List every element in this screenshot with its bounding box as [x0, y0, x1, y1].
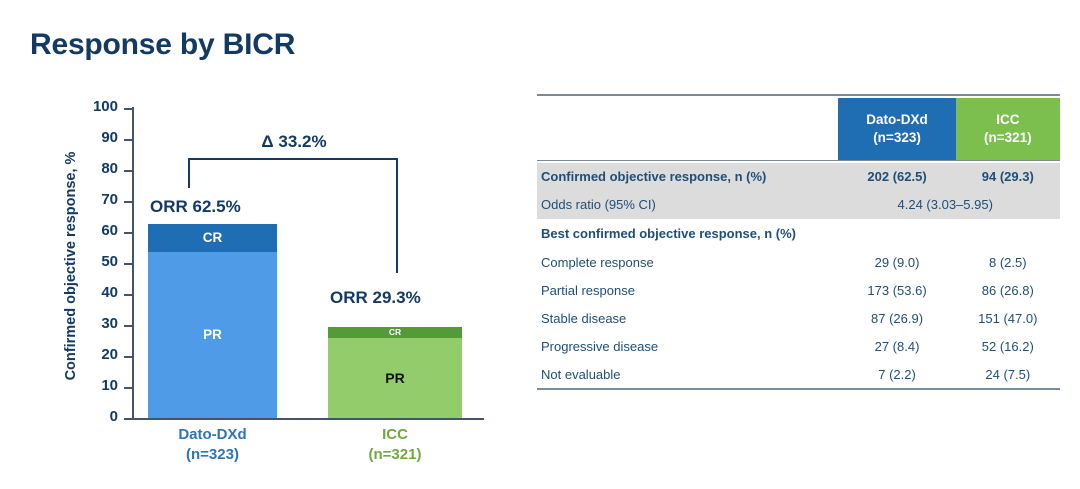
row-value-dato-dxd: 202 (62.5) — [838, 163, 955, 191]
bar-segment-label-pr: PR — [203, 328, 222, 342]
table-section-heading-row: Best confirmed objective response, n (%) — [537, 219, 1060, 249]
bar-segment-label-pr: PR — [385, 371, 404, 385]
row-value-icc: 94 (29.3) — [956, 163, 1060, 191]
y-tick-label: 20 — [74, 346, 118, 363]
table-header-dato-dxd-name: Dato-DXd — [838, 111, 955, 129]
x-category-n: (n=323) — [148, 446, 277, 463]
row-label: Complete response — [537, 249, 838, 277]
response-bar-chart: Confirmed objective response, % 100 90 8… — [0, 0, 520, 489]
delta-bracket-left-arm — [188, 158, 190, 188]
row-value-dato-dxd: 87 (26.9) — [838, 305, 955, 333]
row-value-icc: 52 (16.2) — [956, 333, 1060, 361]
row-value-icc: 24 (7.5) — [956, 361, 1060, 389]
x-category-n: (n=321) — [328, 446, 462, 463]
row-label: Best confirmed objective response, n (%) — [537, 219, 838, 249]
y-tick-label: 80 — [74, 160, 118, 177]
y-axis-tick-labels: 100 90 80 70 60 50 40 30 20 10 0 — [68, 108, 118, 418]
y-tick-label: 70 — [74, 191, 118, 208]
row-value-icc: 151 (47.0) — [956, 305, 1060, 333]
row-value-dato-dxd: 29 (9.0) — [838, 249, 955, 277]
row-label: Partial response — [537, 277, 838, 305]
row-value-odds-ratio: 4.24 (3.03–5.95) — [838, 191, 1060, 219]
row-value-dato-dxd: 7 (2.2) — [838, 361, 955, 389]
table-header-icc: ICC (n=321) — [956, 98, 1060, 160]
row-value-dato-dxd: 27 (8.4) — [838, 333, 955, 361]
bar-segment-icc-pr[interactable]: PR — [328, 338, 462, 418]
orr-label-dato-dxd: ORR 62.5% — [150, 197, 241, 217]
x-axis-line — [132, 418, 484, 420]
delta-bracket — [188, 158, 398, 278]
y-tick-label: 10 — [74, 377, 118, 394]
row-label: Confirmed objective response, n (%) — [537, 163, 838, 191]
y-tick-label: 100 — [74, 98, 118, 115]
table-row: Progressive disease 27 (8.4) 52 (16.2) — [537, 333, 1060, 361]
y-tick-label: 90 — [74, 129, 118, 146]
row-value-icc: 86 (26.8) — [956, 277, 1060, 305]
table-header-dato-dxd-n: (n=323) — [838, 129, 955, 147]
bar-icc[interactable]: CR PR — [328, 327, 462, 418]
response-summary-table: Dato-DXd (n=323) ICC (n=321) Confirmed o… — [537, 94, 1060, 392]
table-header-icc-n: (n=321) — [956, 129, 1060, 147]
y-tick-label: 50 — [74, 253, 118, 270]
row-value-icc: 8 (2.5) — [956, 249, 1060, 277]
x-category-name: Dato-DXd — [148, 426, 277, 443]
row-label: Not evaluable — [537, 361, 838, 389]
x-category-icc: ICC (n=321) — [328, 426, 462, 463]
delta-bracket-top — [188, 158, 398, 160]
row-label: Stable disease — [537, 305, 838, 333]
orr-label-icc: ORR 29.3% — [330, 288, 421, 308]
y-tick-label: 60 — [74, 222, 118, 239]
table-header-blank — [537, 98, 838, 160]
y-tick-label: 40 — [74, 284, 118, 301]
x-category-name: ICC — [328, 426, 462, 443]
table-header-icc-name: ICC — [956, 111, 1060, 129]
response-summary-table-panel: Dato-DXd (n=323) ICC (n=321) Confirmed o… — [537, 94, 1060, 392]
y-tick-label: 0 — [74, 408, 118, 425]
table-row: Complete response 29 (9.0) 8 (2.5) — [537, 249, 1060, 277]
row-label: Progressive disease — [537, 333, 838, 361]
table-row: Stable disease 87 (26.9) 151 (47.0) — [537, 305, 1060, 333]
bar-segment-label-cr: CR — [389, 328, 401, 337]
row-value-dato-dxd: 173 (53.6) — [838, 277, 955, 305]
delta-annotation-label: Δ 33.2% — [188, 132, 400, 152]
bar-segment-icc-cr[interactable]: CR — [328, 327, 462, 338]
table-row: Odds ratio (95% CI) 4.24 (3.03–5.95) — [537, 191, 1060, 219]
table-row: Partial response 173 (53.6) 86 (26.8) — [537, 277, 1060, 305]
y-tick-label: 30 — [74, 315, 118, 332]
table-header-row: Dato-DXd (n=323) ICC (n=321) — [537, 98, 1060, 160]
table-header-dato-dxd: Dato-DXd (n=323) — [838, 98, 955, 160]
table-row: Confirmed objective response, n (%) 202 … — [537, 163, 1060, 191]
table-bottom-rule — [537, 389, 1060, 392]
x-category-dato-dxd: Dato-DXd (n=323) — [148, 426, 277, 463]
delta-bracket-right-arm — [396, 158, 398, 273]
row-label: Odds ratio (95% CI) — [537, 191, 838, 219]
table-row: Not evaluable 7 (2.2) 24 (7.5) — [537, 361, 1060, 389]
y-tick-mark — [124, 418, 133, 420]
